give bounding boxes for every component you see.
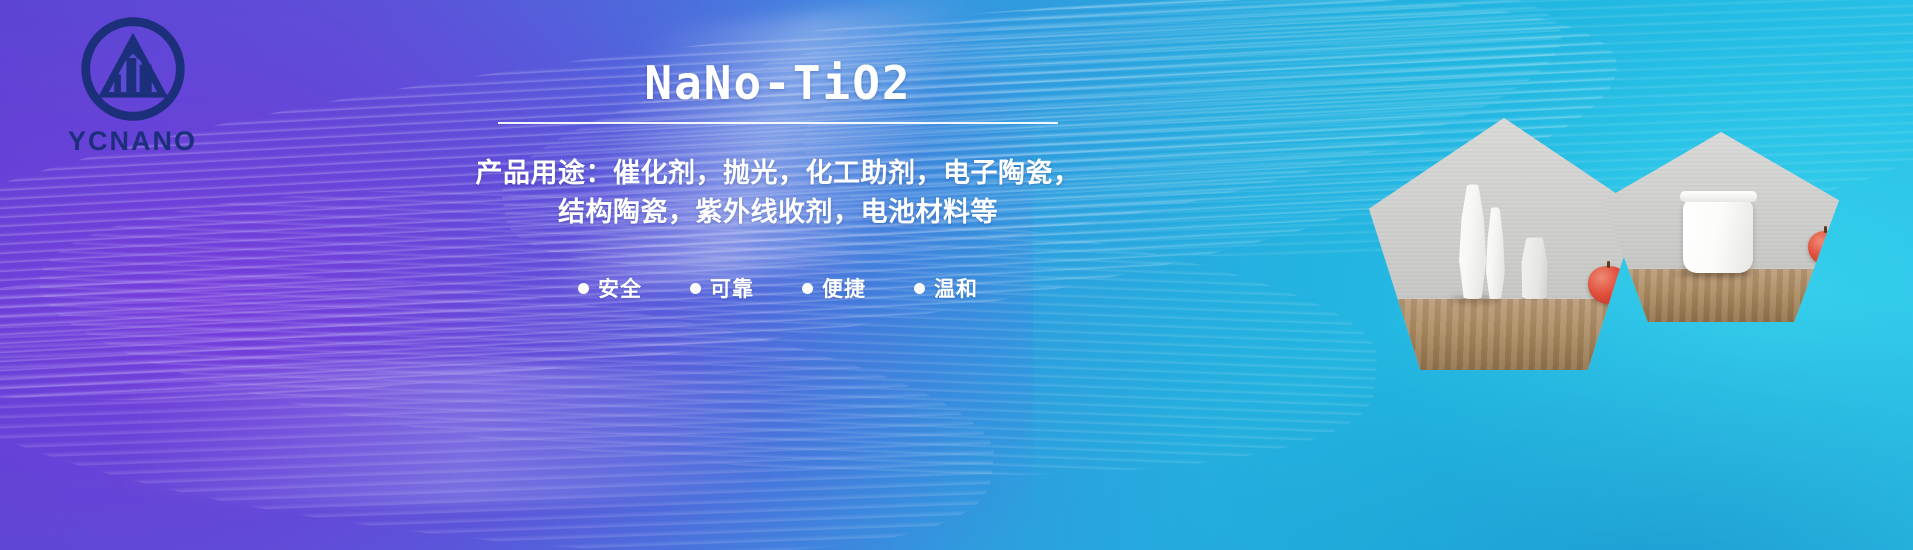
description-line-1: 产品用途：催化剂，抛光，化工助剂，电子陶瓷， bbox=[468, 154, 1088, 194]
jar-lid bbox=[1680, 191, 1757, 202]
feature-label: 温和 bbox=[934, 273, 978, 303]
dot-icon bbox=[690, 283, 701, 294]
feature-item-mild: 温和 bbox=[914, 273, 978, 303]
paint-jar bbox=[1683, 199, 1753, 273]
feature-list: 安全 可靠 便捷 温和 bbox=[468, 273, 1088, 303]
apple-icon bbox=[1588, 266, 1628, 304]
product-photos bbox=[1353, 0, 1873, 550]
dot-icon bbox=[914, 283, 925, 294]
white-jar-photo bbox=[1603, 132, 1839, 322]
page-title: NaNo-TiO2 bbox=[468, 58, 1088, 110]
brand-wordmark: YCNANO bbox=[40, 126, 225, 157]
feature-label: 安全 bbox=[598, 273, 642, 303]
brand-logo: YCNANO bbox=[40, 14, 225, 157]
dot-icon bbox=[578, 283, 589, 294]
jar-scene bbox=[1603, 132, 1839, 322]
vases-scene bbox=[1369, 118, 1639, 370]
feature-item-convenient: 便捷 bbox=[802, 273, 866, 303]
product-description: 产品用途：催化剂，抛光，化工助剂，电子陶瓷， 结构陶瓷，紫外线收剂，电池材料等 bbox=[468, 154, 1088, 234]
feature-label: 便捷 bbox=[822, 273, 866, 303]
dot-icon bbox=[802, 283, 813, 294]
apple-icon bbox=[1808, 231, 1839, 265]
feature-item-reliable: 可靠 bbox=[690, 273, 754, 303]
description-line-2: 结构陶瓷，紫外线收剂，电池材料等 bbox=[468, 193, 1088, 233]
banner-content: NaNo-TiO2 产品用途：催化剂，抛光，化工助剂，电子陶瓷， 结构陶瓷，紫外… bbox=[468, 58, 1088, 303]
ycnano-triangle-circle-logo-icon bbox=[78, 14, 188, 124]
ceramic-vases-photo bbox=[1369, 118, 1639, 370]
title-divider bbox=[498, 122, 1058, 124]
feature-item-safe: 安全 bbox=[578, 273, 642, 303]
feature-label: 可靠 bbox=[710, 273, 754, 303]
photo-table bbox=[1369, 299, 1639, 370]
product-banner: YCNANO NaNo-TiO2 产品用途：催化剂，抛光，化工助剂，电子陶瓷， … bbox=[0, 0, 1913, 550]
